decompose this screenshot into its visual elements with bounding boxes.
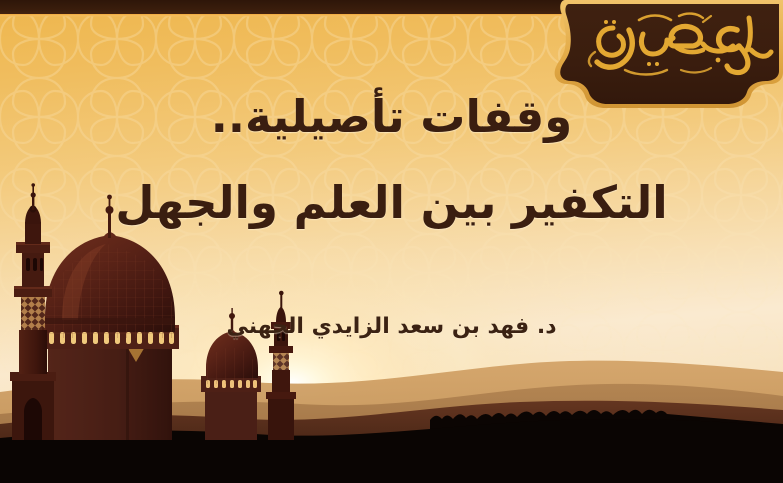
title-line-2: التكفير بين العلم والجهل xyxy=(0,178,783,228)
author-name: د. فهد بن سعد الزايدي الجهني xyxy=(0,314,783,339)
banner-root: على بصيرة وقفات تأصيلية.. التكفير بين ال… xyxy=(0,0,783,483)
title-line-1: وقفات تأصيلية.. xyxy=(0,92,783,142)
small-minaret-lattice xyxy=(273,352,289,370)
